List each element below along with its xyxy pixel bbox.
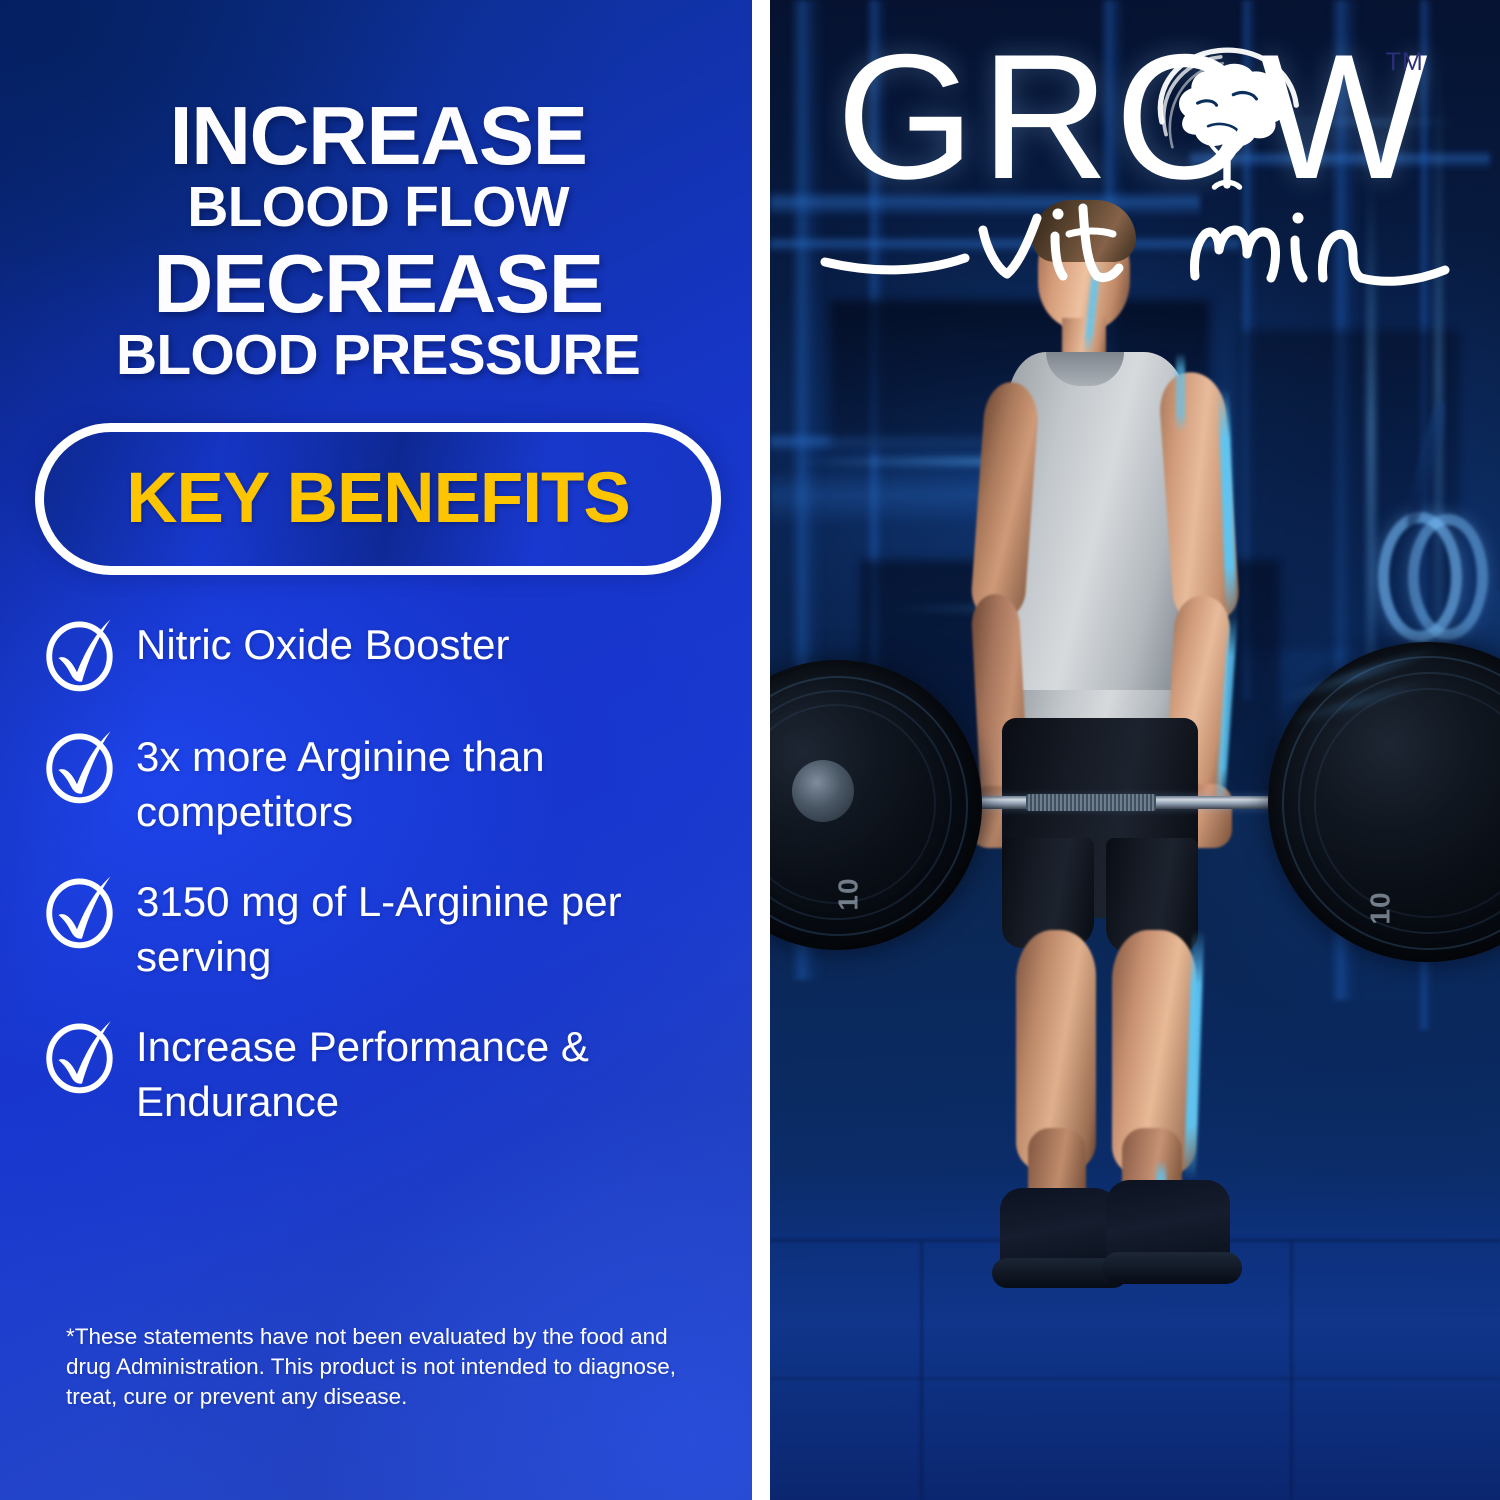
fda-disclaimer: *These statements have not been evaluate… [66, 1322, 696, 1412]
key-benefits-label: KEY BENEFITS [126, 463, 630, 534]
benefit-label: Nitric Oxide Booster [136, 617, 509, 672]
headline-block: INCREASE BLOOD FLOW DECREASE BLOOD PRESS… [32, 0, 724, 383]
benefit-item: Nitric Oxide Booster [40, 617, 724, 695]
plate-weight-label: 10 [833, 877, 865, 910]
panel-divider [752, 0, 770, 1500]
benefit-item: 3150 mg of L-Arginine per serving [40, 874, 724, 985]
benefit-label: 3x more Arginine than competitors [136, 729, 716, 840]
check-circle-icon [40, 868, 124, 952]
athlete-photo-panel: 10 10 GROW [770, 0, 1500, 1500]
benefit-item: 3x more Arginine than competitors [40, 729, 724, 840]
key-benefits-pill: KEY BENEFITS [35, 423, 721, 575]
headline-line-4: BLOOD PRESSURE [32, 328, 724, 383]
check-circle-icon [40, 611, 124, 695]
product-benefits-banner: INCREASE BLOOD FLOW DECREASE BLOOD PRESS… [0, 0, 1500, 1500]
benefit-label: Increase Performance & Endurance [136, 1019, 716, 1130]
check-circle-icon [40, 1013, 124, 1097]
check-circle-icon [40, 723, 124, 807]
left-info-panel: INCREASE BLOOD FLOW DECREASE BLOOD PRESS… [0, 0, 752, 1500]
headline-line-3: DECREASE [32, 244, 724, 324]
headline-line-1: INCREASE [32, 96, 724, 176]
benefits-list: Nitric Oxide Booster 3x more Arginine th… [32, 617, 724, 1130]
benefit-item: Increase Performance & Endurance [40, 1019, 724, 1130]
plate-weight-label-2: 10 [1365, 891, 1397, 924]
headline-line-2: BLOOD FLOW [32, 180, 724, 235]
benefit-label: 3150 mg of L-Arginine per serving [136, 874, 716, 985]
key-benefits-banner: KEY BENEFITS [35, 423, 721, 575]
